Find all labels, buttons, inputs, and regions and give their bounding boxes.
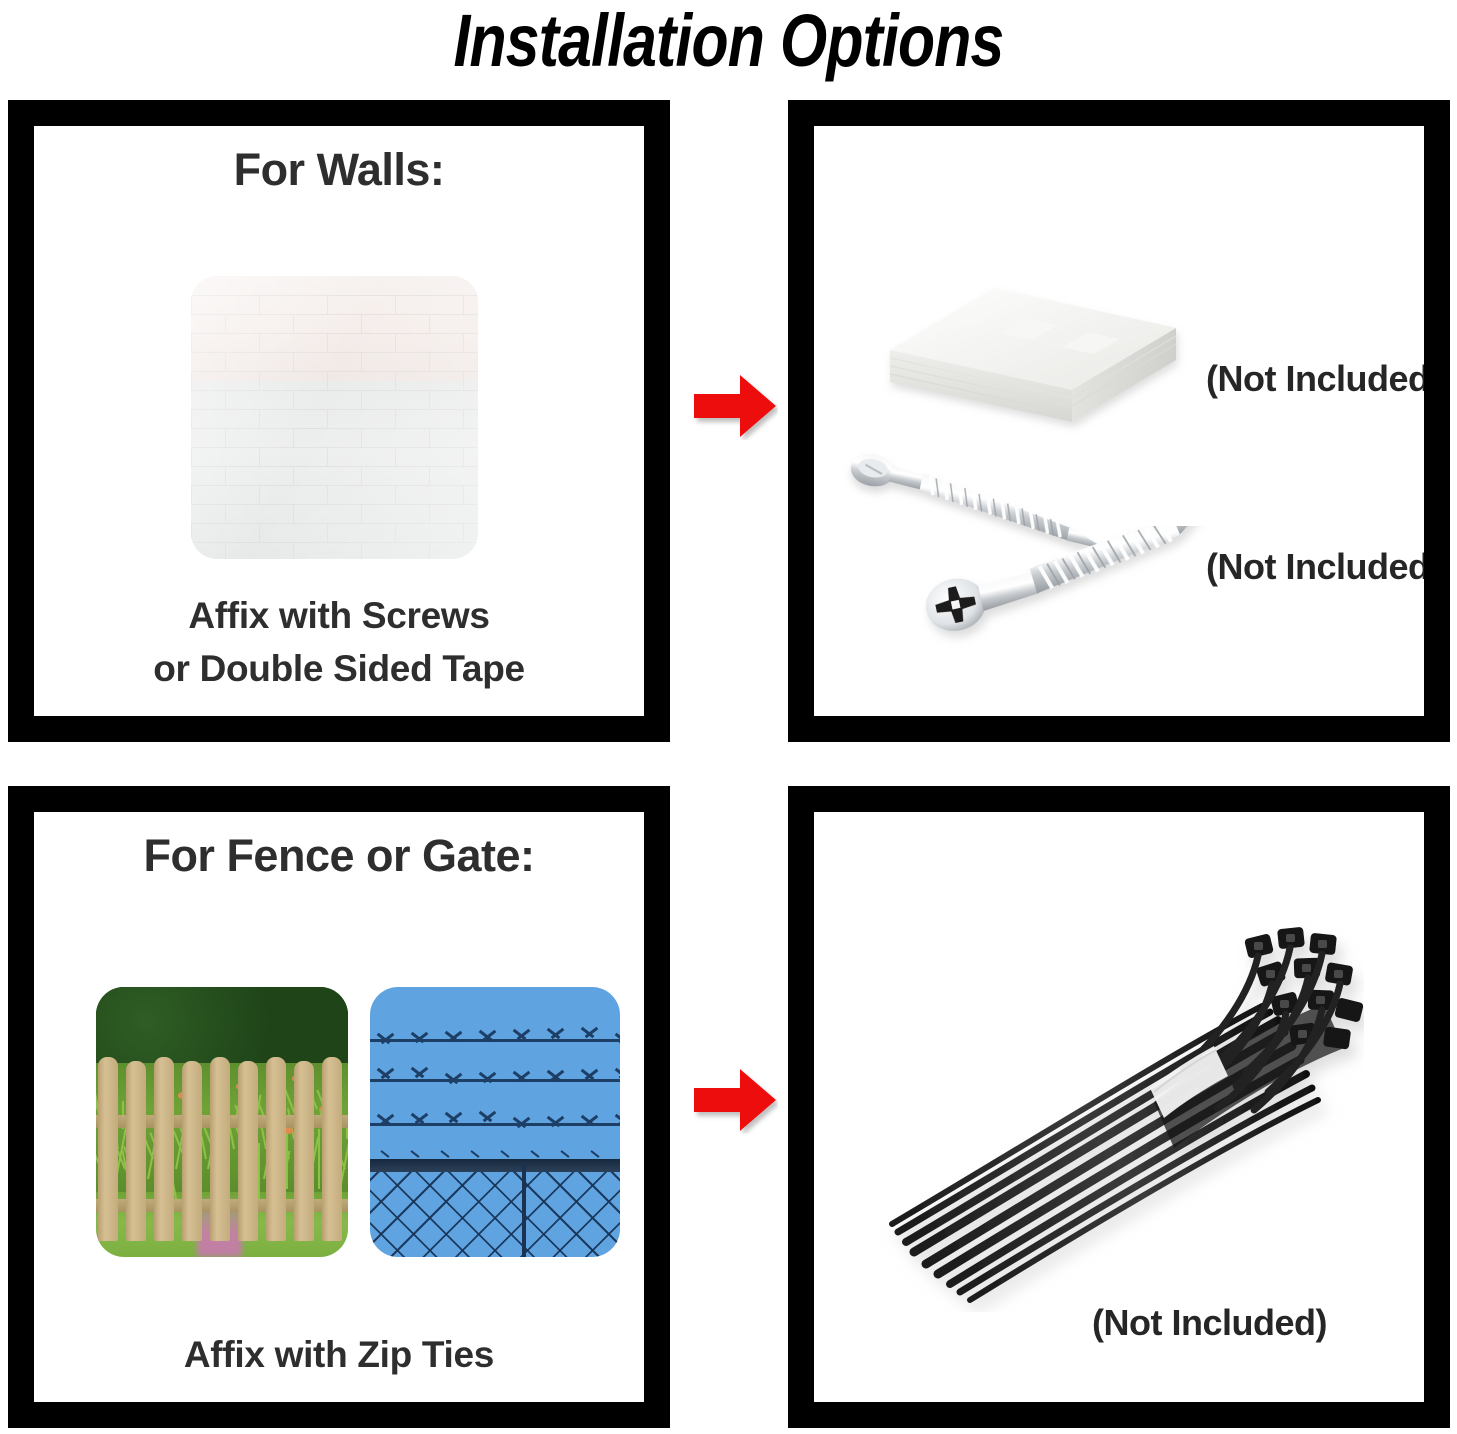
page-title: Installation Options xyxy=(131,0,1326,83)
for-fence-caption: Affix with Zip Ties xyxy=(34,1328,644,1382)
panel-wall-hardware: (Not Included) xyxy=(788,100,1450,742)
for-walls-caption: Affix with Screws or Double Sided Tape xyxy=(34,589,644,696)
zip-ties-not-included-label: (Not Included) xyxy=(1092,1302,1327,1344)
for-walls-heading: For Walls: xyxy=(34,144,644,196)
wall-highlight xyxy=(191,276,478,559)
panel-for-walls: For Walls: Affix with Screws or Double S… xyxy=(8,100,670,742)
red-right-arrow-icon xyxy=(692,1066,778,1134)
caption-line-1: Affix with Zip Ties xyxy=(34,1328,644,1382)
panel-wall-hardware-content: (Not Included) xyxy=(814,126,1424,716)
caption-line-1: Affix with Screws xyxy=(34,589,644,643)
wood-screw-lower xyxy=(914,526,1244,656)
chain-link-barbed-wire-fence-photo xyxy=(370,987,620,1257)
caption-line-2: or Double Sided Tape xyxy=(34,642,644,696)
wooden-picket-fence-photo xyxy=(96,987,348,1257)
panel-for-walls-content: For Walls: Affix with Screws or Double S… xyxy=(34,126,644,716)
black-zip-ties-bundle-photo xyxy=(854,912,1364,1312)
white-brick-wall-photo xyxy=(191,276,478,559)
panel-for-fence-content: For Fence or Gate: Affix with Zip Ties xyxy=(34,812,644,1402)
tape-not-included-label: (Not Included) xyxy=(1206,358,1424,400)
screws-not-included-label: (Not Included) xyxy=(1206,546,1424,588)
red-right-arrow-icon xyxy=(692,372,778,440)
panel-for-fence-or-gate: For Fence or Gate: Affix with Zip Ties xyxy=(8,786,670,1428)
for-fence-heading: For Fence or Gate: xyxy=(34,830,644,882)
panel-zip-ties: (Not Included) xyxy=(788,786,1450,1428)
double-sided-tape-stack-photo xyxy=(876,254,1188,444)
panel-zip-ties-content: (Not Included) xyxy=(814,812,1424,1402)
